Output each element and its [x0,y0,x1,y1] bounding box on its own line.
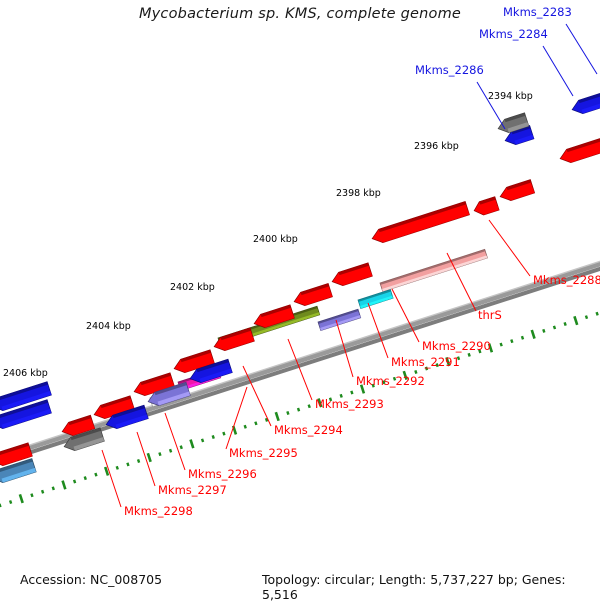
gene-label-reverse[interactable]: Mkms_2290 [422,339,491,353]
ruler-tick [223,432,224,435]
gene-feature-reverse[interactable] [214,328,254,351]
ruler-tick-label: 2398 kbp [336,188,381,199]
leader-line [102,450,121,507]
domain-band[interactable] [380,249,487,291]
ruler-tick-label: 2404 kbp [86,321,131,332]
ruler-tick-label: 2400 kbp [253,234,298,245]
ruler-tick [469,353,470,356]
gene-label-reverse[interactable]: Mkms_2297 [158,483,227,497]
ruler-tick-label: 2394 kbp [488,91,533,102]
leader-line [489,220,530,276]
ruler-tick-label: 2396 kbp [414,141,459,152]
gene-label-reverse[interactable]: Mkms_2294 [274,423,343,437]
gene-feature-forward[interactable] [572,87,600,113]
footer-bar: Accession: NC_008705 Topology: circular;… [0,562,600,600]
ruler-tick [554,326,555,329]
ruler-tick [266,418,267,421]
ruler-tick [202,439,203,442]
ruler-tick [53,487,54,490]
gene-label-forward[interactable]: Mkms_2284 [479,27,548,41]
leader-line [477,82,505,129]
forward-strand-track[interactable] [0,87,600,428]
ruler-tick [170,449,171,452]
ruler-tick [309,405,310,408]
ruler-tick [245,425,246,428]
domain-band[interactable] [318,309,361,330]
ruler-tick [276,412,279,421]
ruler-tick [255,422,256,425]
ruler-tick [287,411,288,414]
leader-line [543,46,573,96]
ruler-tick [501,343,502,346]
gene-label-forward[interactable]: Mkms_2286 [415,63,484,77]
gene-feature-reverse[interactable] [500,180,535,201]
ruler-tick [74,480,75,483]
ruler-tick [159,453,160,456]
ruler-tick [522,336,523,339]
ruler-tick [213,435,214,438]
gene-label-forward[interactable]: Mkms_2283 [503,5,572,19]
ruler-tick [127,463,128,466]
ruler-tick [543,329,544,332]
ruler-tick [532,330,535,339]
gene-label-reverse[interactable]: Mkms_2295 [229,446,298,460]
ruler-tick [351,391,352,394]
ruler-tick [10,500,11,503]
domain-band-track[interactable] [150,249,487,406]
ruler-tick-label: 2402 kbp [170,282,215,293]
ruler-tick [597,312,598,315]
gene-label-reverse[interactable]: Mkms_2293 [315,397,384,411]
genome-map-viewer: Mycobacterium sp. KMS, complete genome M… [0,0,600,600]
gene-feature-reverse[interactable] [294,283,332,305]
ruler-tick [85,476,86,479]
gene-label-reverse[interactable]: Mkms_2288 [533,273,600,287]
ruler-tick [148,453,151,462]
ruler-tick-label: 2406 kbp [3,368,48,379]
ruler-tick [586,316,587,319]
gene-label-reverse[interactable]: Mkms_2298 [124,504,193,518]
ruler-tick [181,446,182,449]
feature-shadow [380,249,485,285]
gene-feature-reverse[interactable] [372,201,469,242]
ruler-tick [138,459,139,462]
ruler-tick [565,322,566,325]
gene-label-reverse[interactable]: thrS [478,308,502,322]
ruler-tick [574,316,577,325]
ruler-tick [511,340,512,343]
ruler-tick [63,481,66,490]
ruler-tick [42,490,43,493]
ruler-tick [191,440,194,449]
gene-label-reverse[interactable]: Mkms_2291 [391,355,460,369]
gene-feature-reverse[interactable] [560,134,600,162]
ruler-tick [298,408,299,411]
ruler-tick [117,466,118,469]
gene-feature-reverse[interactable] [332,263,372,286]
leader-line [566,24,597,74]
leader-line [165,413,185,470]
accession-text: Accession: NC_008705 [20,572,162,587]
leader-line [226,387,247,449]
feature-highlight [382,255,488,291]
genome-map-canvas[interactable]: Mkms_2288thrSMkms_2290Mkms_2291Mkms_2292… [0,0,600,600]
gene-label-reverse[interactable]: Mkms_2296 [188,467,257,481]
ruler-tick [95,473,96,476]
gene-feature-reverse[interactable] [474,197,499,215]
gene-label-reverse[interactable]: Mkms_2292 [356,374,425,388]
topology-text: Topology: circular; Length: 5,737,227 bp… [262,572,600,602]
domain-band[interactable] [358,290,393,309]
leader-line [137,432,155,486]
ruler-tick [20,494,23,503]
ruler-tick [31,494,32,497]
